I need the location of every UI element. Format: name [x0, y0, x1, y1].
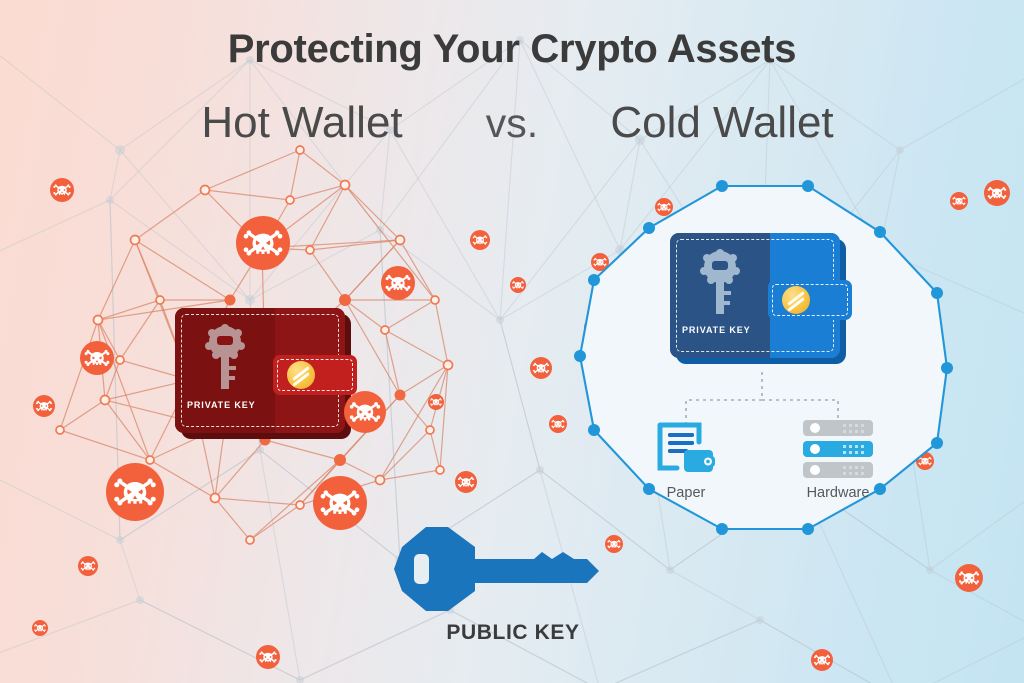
infographic-canvas: PRIVATE KEY [0, 0, 1024, 683]
hardware-wallet-label: Hardware [778, 485, 898, 501]
paper-wallet-label: Paper [626, 485, 746, 501]
cold-wallet-key-icon [696, 247, 744, 319]
public-key-label: PUBLIC KEY [382, 621, 644, 645]
public-key-graphic: PUBLIC KEY [382, 521, 644, 622]
subtitle-cold-wallet: Cold Wallet [572, 98, 872, 148]
cold-wallet-graphic: PRIVATE KEY [670, 233, 840, 358]
page-title: Protecting Your Crypto Assets [0, 27, 1024, 72]
cold-wallet-coin-icon [782, 286, 810, 314]
subtitle-hot-wallet: Hot Wallet [152, 98, 452, 148]
hardware-wallet-icon [803, 420, 873, 478]
public-key-icon [382, 521, 614, 617]
cold-wallet-flap [768, 280, 852, 320]
subtitle-vs: vs. [452, 100, 572, 147]
paper-wallet-icon [655, 420, 717, 478]
comparison-subtitle: Hot Wallet vs. Cold Wallet [0, 98, 1024, 148]
cold-wallet-private-key-label: PRIVATE KEY [682, 325, 751, 335]
